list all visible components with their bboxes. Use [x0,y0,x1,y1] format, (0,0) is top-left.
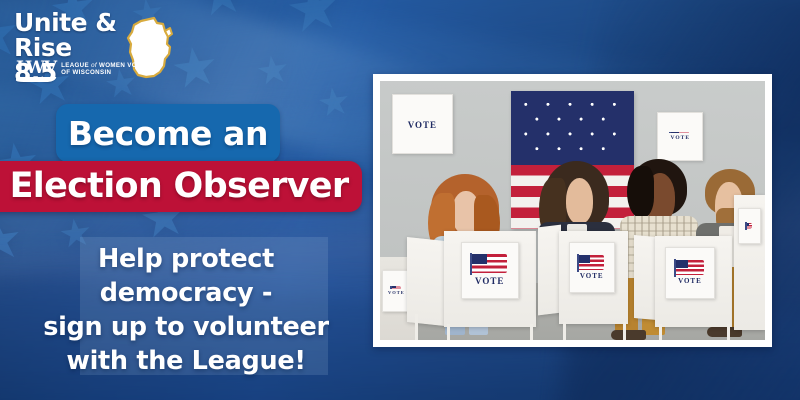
flag-canton [392,286,396,287]
vote-poster-wall-right: VOTE [657,112,703,161]
photo-frame: VOTE VOTE [373,74,772,347]
booth-leg [659,324,662,340]
booth-leg [623,322,626,340]
vote-sign-booth-mid: VOTE [569,242,615,294]
body-copy-line3: sign up to volunteer [0,310,372,344]
lwv-org-of: of [91,62,97,69]
poster-canvas: ★ ★ ★ ★ ★ ★ ★ ★ ★ ★ ★ ★ ★ ★ ★ ★ ★ ★ [0,0,800,400]
lwv-swoosh-icon [16,77,57,82]
booth-leg [447,324,450,340]
voting-booth-left-wing [407,237,446,327]
booth-leg [563,322,566,340]
flag-stars [511,91,634,165]
polling-place-photo: VOTE VOTE [380,81,765,340]
body-copy-line4: with the League! [0,344,372,378]
lwv-org-line1-a: LEAGUE [61,62,89,69]
booth-leg [415,314,418,340]
headline-banner-blue: Become an [56,104,280,162]
vote-sign-booth-right: VOTE [665,247,715,299]
voter-shoe [611,330,646,340]
lwv-org-name: LEAGUE of WOMEN VOTERS OF WISCONSIN [61,61,155,77]
lwv-monogram: LWV [16,61,56,82]
vote-sign-flag-icon [747,223,752,230]
lwv-wisconsin-logo: Unite & Rise 8.5 LWV LEAGUE of WOMEN VOT… [14,8,166,78]
vote-sign-label: VOTE [475,276,504,286]
flag-canton [472,254,487,264]
lwv-monogram-letters: LWV [16,58,56,78]
vote-poster-flag-icon [671,132,689,133]
vote-sign-booth-far-right [738,208,761,244]
vote-sign-flag-icon [392,286,402,289]
body-copy: Help protect democracy - sign up to volu… [0,242,372,378]
vote-sign-flag-icon [579,255,604,270]
flag-canton [676,260,688,268]
lwv-org-line1-b: WOMEN VOTERS [99,62,155,69]
flag-canton [579,255,590,263]
voting-booth-right-wing [634,235,657,320]
headline-line1: Become an [68,117,268,150]
vote-poster-wall-left: VOTE [392,94,454,154]
lwv-org-line2: OF WISCONSIN [61,69,111,76]
headline-line2: Election Observer [0,169,348,204]
lwv-lockup: LWV LEAGUE of WOMEN VOTERS OF WISCONSIN [16,61,155,82]
flag-canton [747,223,749,227]
vote-sign-label: VOTE [580,272,604,280]
vote-sign-label: VOTE [678,277,702,285]
body-copy-line1: Help protect [0,242,372,276]
vote-poster-label: VOTE [671,135,690,141]
vote-poster-label: VOTE [408,120,437,130]
booth-leg [530,324,533,340]
vote-sign-flag-icon [676,260,705,275]
vote-sign-label: VOTE [388,290,405,295]
voting-booth-mid-wing [538,225,561,316]
body-copy-line2: democracy - [0,276,372,310]
vote-sign-booth-main: VOTE [461,242,519,299]
vote-sign-flag-icon [472,254,508,272]
booth-leg [727,324,730,340]
headline-banner-red: Election Observer [0,161,362,212]
